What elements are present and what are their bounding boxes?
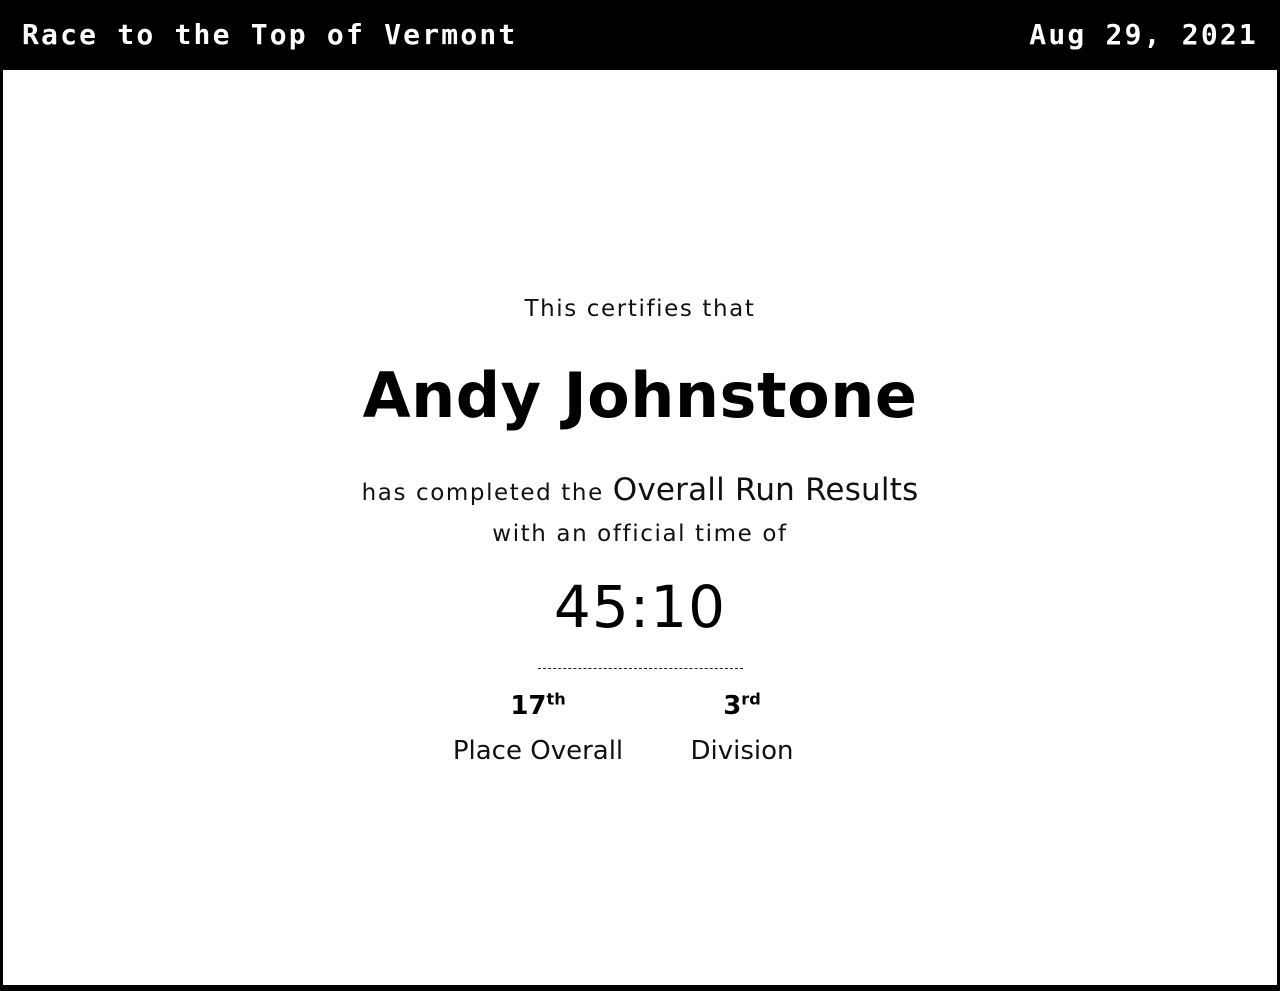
place-overall-value: 17th xyxy=(436,693,640,719)
division-label: Division xyxy=(640,738,844,764)
result-column-place-overall: 17th Place Overall xyxy=(436,693,640,764)
recipient-name: Andy Johnstone xyxy=(3,365,1277,427)
event-name: Overall Run Results xyxy=(613,472,919,508)
place-overall-number: 17 xyxy=(510,691,546,721)
certificate-body: This certifies that Andy Johnstone has c… xyxy=(3,298,1277,764)
place-overall-label: Place Overall xyxy=(436,738,640,764)
result-column-division: 3rd Division xyxy=(640,693,844,764)
results-row: 17th Place Overall 3rd Division xyxy=(3,693,1277,764)
divider-wrap xyxy=(3,668,1277,669)
certifies-text: This certifies that xyxy=(3,298,1277,321)
race-date: Aug 29, 2021 xyxy=(1029,21,1258,49)
official-time-text: with an official time of xyxy=(3,523,1277,546)
completed-line: has completed the Overall Run Results xyxy=(3,475,1277,506)
division-suffix: rd xyxy=(741,689,760,708)
dashed-divider xyxy=(538,668,743,669)
certificate-frame: This certifies that Andy Johnstone has c… xyxy=(0,70,1280,991)
finish-time: 45:10 xyxy=(3,578,1277,636)
completed-prefix-text: has completed the xyxy=(362,480,613,506)
certificate-page: Race to the Top of Vermont Aug 29, 2021 … xyxy=(0,0,1280,991)
race-title: Race to the Top of Vermont xyxy=(22,21,518,49)
division-value: 3rd xyxy=(640,693,844,719)
race-header-bar: Race to the Top of Vermont Aug 29, 2021 xyxy=(0,0,1280,70)
place-overall-suffix: th xyxy=(547,689,566,708)
division-number: 3 xyxy=(723,691,741,721)
